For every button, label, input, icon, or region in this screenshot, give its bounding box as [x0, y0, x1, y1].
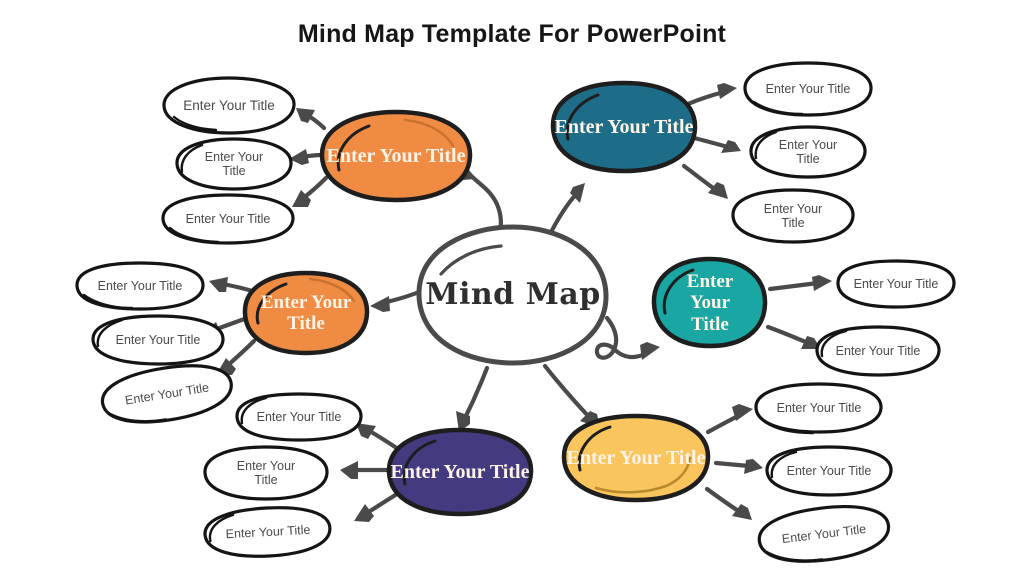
leaf-node-bottom-left-1[interactable]: Enter Your Title	[232, 391, 366, 443]
mind-map-canvas: Mind Map Template For PowerPoint	[0, 0, 1024, 576]
leaf-ellipse-shape	[833, 258, 959, 310]
branch-ellipse-shape	[383, 426, 537, 518]
leaf-node-bottom-right-2[interactable]: Enter Your Title	[762, 444, 896, 498]
branch-ellipse-shape	[240, 269, 372, 357]
leaf-ellipse-shape	[158, 192, 298, 246]
connector-bl-branch-to-leaf-2	[340, 461, 388, 479]
leaf-ellipse-shape	[728, 187, 858, 245]
branch-node-top-left[interactable]: Enter Your Title	[317, 108, 475, 204]
branch-node-right[interactable]: Enter Your Title	[649, 255, 771, 351]
connector-br-branch-to-leaf-1	[708, 404, 753, 432]
branch-node-top-right[interactable]: Enter Your Title	[548, 79, 700, 175]
leaf-ellipse-shape	[200, 444, 332, 502]
leaf-ellipse-shape	[172, 136, 296, 192]
branch-node-bottom-left[interactable]: Enter Your Title	[383, 426, 537, 518]
leaf-node-top-right-3[interactable]: Enter Your Title	[728, 187, 858, 245]
branch-ellipse-shape	[548, 79, 700, 175]
branch-node-left[interactable]: Enter Your Title	[240, 269, 372, 357]
leaf-node-right-2[interactable]: Enter Your Title	[812, 324, 944, 378]
leaf-node-left-2[interactable]: Enter Your Title	[88, 313, 228, 367]
leaf-node-top-left-3[interactable]: Enter Your Title	[158, 192, 298, 246]
branch-ellipse-shape	[649, 255, 771, 351]
leaf-ellipse-shape	[88, 313, 228, 367]
leaf-ellipse-shape	[160, 75, 298, 137]
leaf-ellipse-shape	[740, 60, 876, 118]
leaf-ellipse-shape	[812, 324, 944, 378]
leaf-node-bottom-right-1[interactable]: Enter Your Title	[751, 381, 887, 435]
leaf-ellipse-shape	[232, 391, 366, 443]
mind-map-center-node[interactable]: Mind Map	[415, 222, 611, 368]
leaf-ellipse-shape	[746, 124, 870, 180]
leaf-node-top-left-2[interactable]: Enter Your Title	[172, 136, 296, 192]
leaf-ellipse-shape	[72, 260, 208, 312]
hub-ellipse-shape	[415, 222, 611, 368]
connector-r-branch-to-leaf-1	[770, 275, 832, 291]
connector-hub-to-bottom-left	[456, 368, 487, 432]
leaf-node-left-1[interactable]: Enter Your Title	[72, 260, 208, 312]
leaf-node-top-right-1[interactable]: Enter Your Title	[740, 60, 876, 118]
leaf-ellipse-shape	[762, 444, 896, 498]
leaf-node-top-right-2[interactable]: Enter Your Title	[746, 124, 870, 180]
branch-node-bottom-right[interactable]: Enter Your Title	[558, 412, 714, 504]
leaf-node-bottom-left-2[interactable]: Enter Your Title	[200, 444, 332, 502]
branch-ellipse-shape	[317, 108, 475, 204]
leaf-ellipse-shape	[751, 381, 887, 435]
leaf-node-right-1[interactable]: Enter Your Title	[833, 258, 959, 310]
connector-br-branch-to-leaf-2	[716, 459, 763, 474]
leaf-ellipse-shape	[199, 501, 338, 562]
leaf-node-top-left-1[interactable]: Enter Your Title	[160, 75, 298, 137]
connector-tr-branch-to-leaf-2	[694, 138, 741, 153]
branch-ellipse-shape	[558, 412, 714, 504]
leaf-node-bottom-left-3[interactable]: Enter Your Title	[199, 501, 338, 562]
